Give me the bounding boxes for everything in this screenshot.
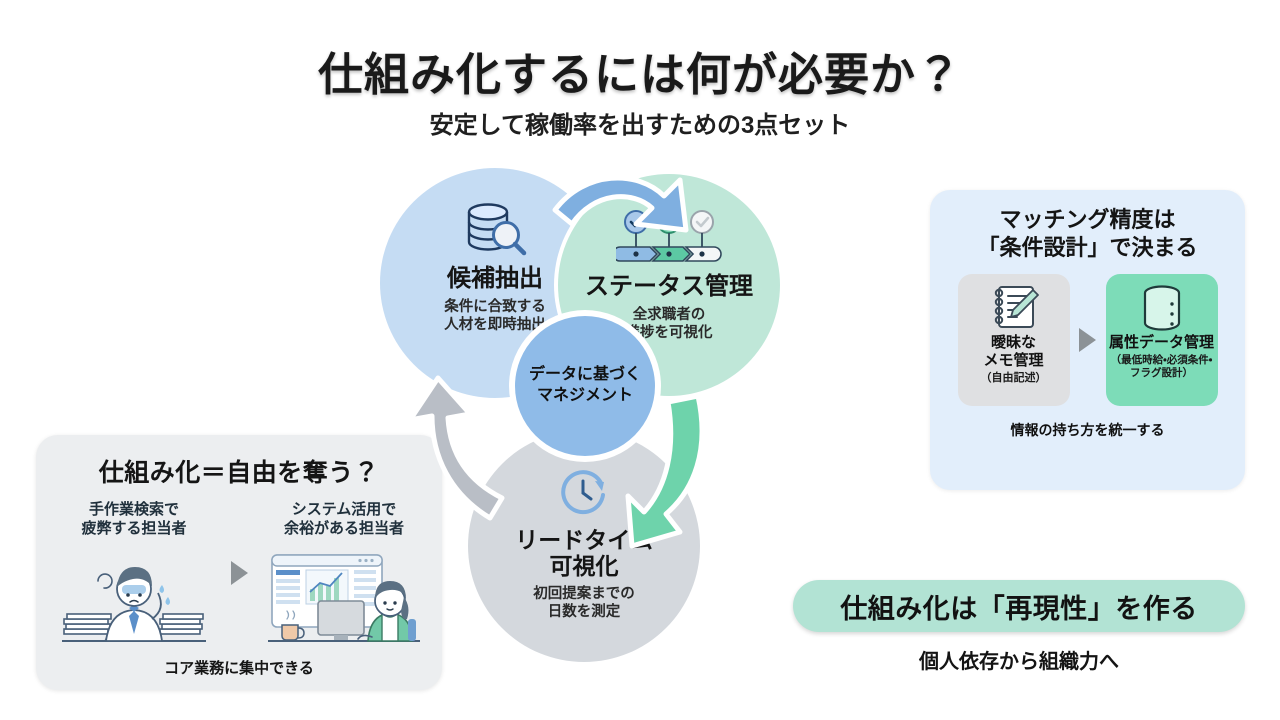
title-line-2: 「条件設計」で決まる [930, 234, 1245, 262]
status-pipeline-icon [616, 206, 722, 268]
left-card-title: 仕組み化＝自由を奪う？ [36, 453, 442, 489]
cycle-node-desc: 初回提案までの 日数を測定 [533, 585, 635, 622]
desc-line-2: 日数を測定 [533, 603, 635, 622]
label-line-1: 曖昧な [983, 334, 1043, 352]
cycle-node-lead-time-visualization[interactable]: リードタイム 可視化 初回提案までの 日数を測定 [468, 430, 700, 662]
banner-subtext: 個人依存から組織力へ [793, 645, 1245, 674]
caption-line-1: 手作業検索で [50, 501, 218, 520]
database-icon [1138, 282, 1186, 332]
after-column: システム活用で 余裕がある担当者 [260, 501, 428, 657]
before-after-row: 手作業検索で 疲弊する担当者 [36, 501, 442, 657]
center-label-line-2: マネジメント [537, 386, 633, 407]
page-subtitle: 安定して稼働率を出すための3点セット [0, 105, 1280, 140]
tile-attribute-data[interactable]: 属性データ管理 （最低時給・必須条件・ フラグ設計） [1106, 274, 1218, 406]
database-search-icon [462, 198, 528, 260]
relaxed-worker-illustration [260, 545, 428, 657]
left-card: 仕組み化＝自由を奪う？ 手作業検索で 疲弊する担当者 [36, 435, 442, 690]
before-column: 手作業検索で 疲弊する担当者 [50, 501, 218, 657]
tile-sub: （最低時給・必須条件・ フラグ設計） [1111, 354, 1213, 379]
after-caption: システム活用で 余裕がある担当者 [260, 501, 428, 539]
desc-line-2: 人材を即時抽出 [444, 316, 546, 335]
triangle-right-icon [1079, 328, 1096, 352]
clock-refresh-icon [555, 460, 613, 522]
left-card-arrow [218, 501, 260, 585]
right-card-tiles: 曖昧な メモ管理 （自由記述） [930, 274, 1245, 406]
cycle-center-hub: データに基づく マネジメント [515, 316, 655, 456]
cycle-node-desc: 条件に合致する 人材を即時抽出 [444, 298, 546, 335]
label-line-2: メモ管理 [983, 352, 1043, 370]
sub-line-2: フラグ設計） [1111, 367, 1213, 380]
sub-line-1: （最低時給・必須条件・ [1111, 354, 1213, 367]
right-card-title: マッチング精度は 「条件設計」で決まる [930, 190, 1245, 262]
cycle-node-desc: 全求職者の 進捗を可視化 [626, 306, 713, 343]
page-title: 仕組み化するには何が必要か？ [0, 38, 1280, 103]
desc-line-1: 条件に合致する [444, 298, 546, 317]
desc-line-1: 全求職者の [626, 306, 713, 325]
title-line-2: 可視化 [515, 554, 653, 580]
cycle-diagram: 候補抽出 条件に合致する 人材を即時抽出 [380, 168, 800, 668]
notepad-pencil-icon [987, 282, 1041, 332]
caption-line-2: 余裕がある担当者 [260, 520, 428, 539]
tile-label: 属性データ管理 [1109, 334, 1214, 352]
center-label-line-1: データに基づく [529, 365, 641, 386]
tile-vague-memo[interactable]: 曖昧な メモ管理 （自由記述） [958, 274, 1070, 406]
stressed-worker-illustration [50, 545, 218, 657]
before-caption: 手作業検索で 疲弊する担当者 [50, 501, 218, 539]
cycle-node-title: ステータス管理 [585, 274, 753, 301]
right-card-footer: 情報の持ち方を統一する [930, 420, 1245, 440]
slide-root: 仕組み化するには何が必要か？ 安定して稼働率を出すための3点セット [0, 0, 1280, 720]
conclusion-banner: 仕組み化は「再現性」を作る [793, 580, 1245, 632]
tile-sub: （自由記述） [981, 372, 1047, 385]
caption-line-1: システム活用で [260, 501, 428, 520]
cycle-node-title: リードタイム 可視化 [515, 528, 653, 580]
tile-label: 曖昧な メモ管理 [983, 334, 1043, 370]
right-card-arrow [1070, 328, 1106, 352]
title-line-1: マッチング精度は [930, 206, 1245, 234]
desc-line-1: 初回提案までの [533, 585, 635, 604]
banner-text: 仕組み化は「再現性」を作る [840, 587, 1198, 626]
title-line-1: リードタイム [515, 528, 653, 554]
caption-line-2: 疲弊する担当者 [50, 520, 218, 539]
right-card: マッチング精度は 「条件設計」で決まる 曖 [930, 190, 1245, 490]
cycle-node-title: 候補抽出 [447, 266, 543, 293]
left-card-footer: コア業務に集中できる [36, 657, 442, 678]
triangle-right-icon [231, 561, 248, 585]
